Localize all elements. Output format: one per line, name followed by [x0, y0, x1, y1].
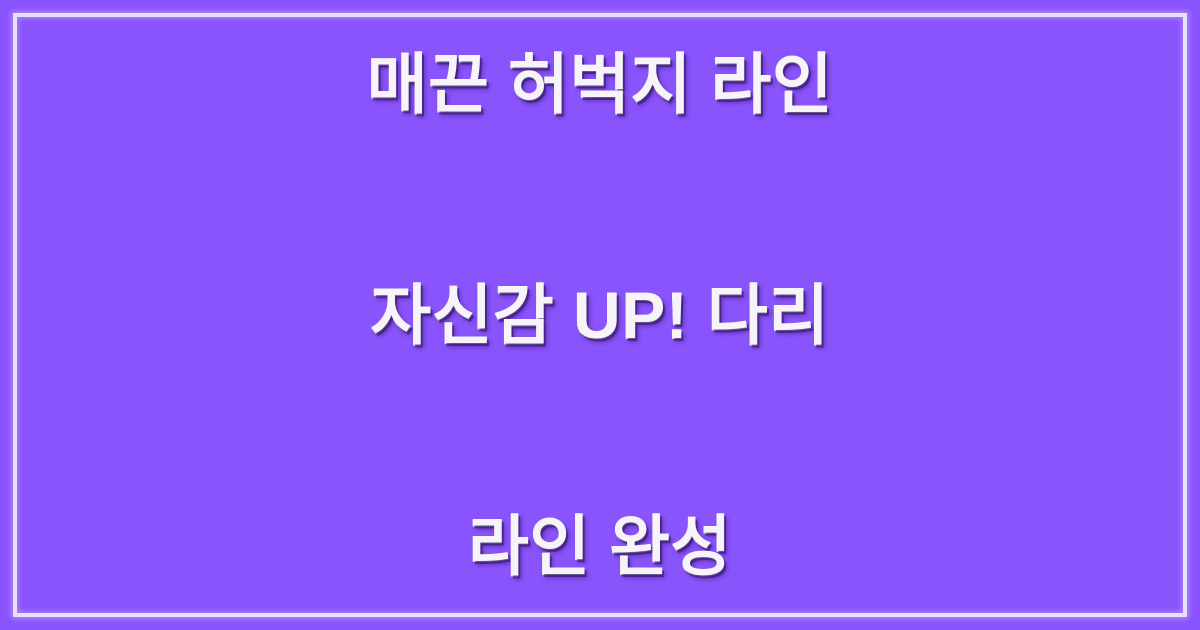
- page-title: 매끈 허벅지 라인 자신감 UP! 다리 라인 완성: [320, 0, 880, 630]
- headline-line-3: 라인 완성: [320, 508, 880, 585]
- headline-line-2: 자신감 UP! 다리: [320, 277, 880, 354]
- headline-line-1: 매끈 허벅지 라인: [320, 46, 880, 123]
- headline-container: 매끈 허벅지 라인 자신감 UP! 다리 라인 완성: [0, 0, 1200, 630]
- thumbnail-canvas: 매끈 허벅지 라인 자신감 UP! 다리 라인 완성: [0, 0, 1200, 630]
